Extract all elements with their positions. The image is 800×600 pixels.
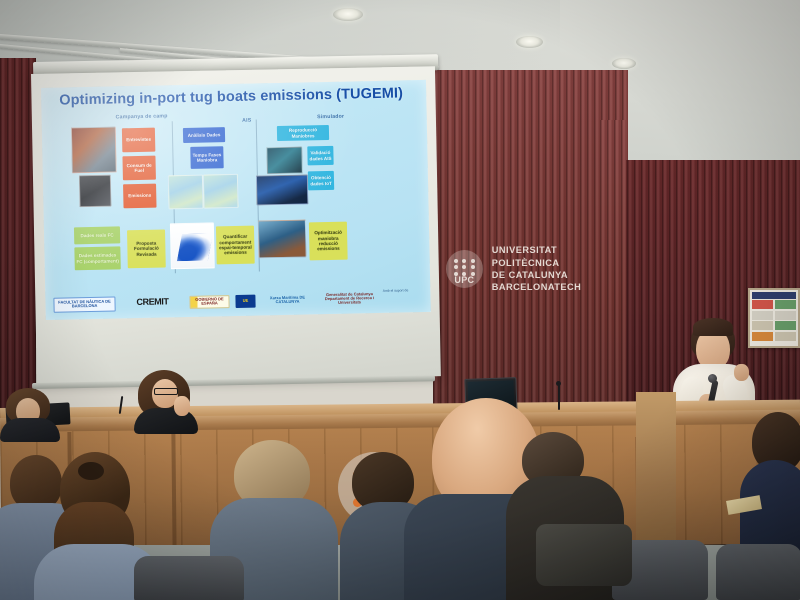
slide-box-temps-fases-maniobra: Temps Fases Maniobra — [190, 146, 223, 169]
slide-box-dades-estimades-fc: Dades estimades FC (comportament) — [74, 246, 120, 270]
slide-box-obtencio-dades-iot: Obtenció dades IoT — [308, 171, 334, 191]
slide-box-emissions: Emissions — [123, 184, 156, 209]
audience-chair — [716, 544, 800, 600]
column-heading-ais: AIS — [222, 117, 272, 124]
upc-fnb-logo: FACULTAT DE NÀUTICA DE BARCELONA — [53, 296, 115, 312]
ceiling-downlight — [516, 36, 543, 48]
poster-row — [752, 300, 796, 309]
projected-slide: Optimizing in-port tug boats emissions (… — [41, 80, 431, 320]
slide-box-quantificar-comportament: Quantificar comportament espai-temporal … — [216, 226, 255, 265]
slide-image-scatter-plot — [170, 222, 215, 269]
panelist-left — [0, 388, 70, 438]
slide-box-optimitzacio-maniobra: Optimització maniobra reducció emissions — [309, 222, 348, 261]
generalitat-catalunya-logo: Generalitat de Catalunya Departament de … — [319, 290, 379, 306]
slide-box-analisis-dades: Anàlisis Dades — [183, 127, 225, 143]
slide-box-proposta-formulacio: Proposta Formulació Revisada — [127, 229, 166, 268]
ceiling-downlight — [612, 58, 636, 69]
upc-sign-text: UNIVERSITAT POLITÈCNICA DE CATALUNYA BAR… — [492, 244, 621, 294]
lecture-hall-photo: Optimizing in-port tug boats emissions (… — [0, 0, 800, 600]
slide-image-aerial-port — [266, 147, 303, 175]
panelist-moderator-glasses-icon — [154, 388, 178, 395]
slide-box-dades-reals-fc: Dades reals FC — [74, 226, 120, 244]
upc-logo-icon: UPC — [446, 250, 483, 288]
panelist-moderator-hand — [174, 396, 190, 416]
slide-title: Optimizing in-port tug boats emissions (… — [59, 85, 403, 108]
poster-row — [752, 311, 796, 320]
upc-sign-line3: BARCELONATECH — [492, 281, 621, 293]
upc-logo-label: UPC — [446, 275, 483, 285]
audience-chair — [134, 556, 244, 600]
side-lectern — [636, 392, 676, 562]
slide-image-port-map-2 — [203, 174, 239, 209]
xarxa-maritima-logo: Xarxa Marítima DE CATALUNYA — [261, 292, 313, 308]
upc-sign-line1: UNIVERSITAT POLITÈCNICA — [492, 244, 621, 269]
panelist-left-torso — [0, 418, 60, 442]
gooseneck-microphone-head-icon — [556, 381, 561, 386]
slide-image-port-map-1 — [168, 175, 204, 210]
slide-logo-strip: FACULTAT DE NÀUTICA DE BARCELONA CREMIT … — [53, 285, 423, 317]
cremit-logo: CREMIT — [121, 295, 183, 311]
slide-box-entrevistes: Entrevistes — [122, 128, 155, 153]
slide-image-tug-engine — [71, 126, 117, 173]
audience-bag — [536, 524, 632, 586]
slide-image-bridge-simulator — [256, 174, 309, 205]
scatter-plot-points — [176, 233, 212, 261]
gobierno-espana-logo: GOBIERNO DE ESPAÑA — [189, 295, 229, 309]
slide-box-reproduccio-maniobres: Reproducció Maniobres — [277, 125, 329, 141]
slide-image-tugboat — [258, 219, 307, 258]
column-heading-campanya: Campanya de camp — [97, 113, 187, 121]
slide-box-consum-de-fuel: Consum de Fuel — [122, 156, 155, 181]
microphone-head-icon — [708, 374, 717, 383]
upc-wall-sign: UPC UNIVERSITAT POLITÈCNICA DE CATALUNYA… — [446, 247, 621, 291]
slide-box-validacio-dades-ais: Validació dades AIS — [307, 146, 333, 166]
audience-hair-scrunchie — [78, 462, 104, 480]
european-union-logo: UE — [235, 294, 255, 307]
column-heading-simulador: Simulador — [296, 113, 366, 120]
upc-sign-line2: DE CATALUNYA — [492, 269, 621, 281]
presenter-hand-gesture — [734, 364, 749, 381]
panelist-moderator — [128, 370, 218, 428]
ceiling-downlight — [333, 8, 363, 21]
wood-slat-wall-left — [0, 58, 36, 418]
poster-header-band — [752, 292, 796, 299]
slide-image-instrument-case — [79, 175, 112, 208]
presenter-hair-bun — [693, 318, 733, 336]
